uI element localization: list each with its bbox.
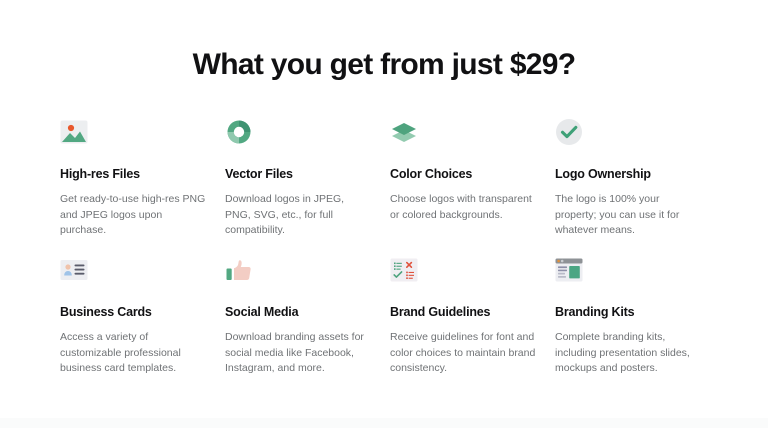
feature-title: Branding Kits bbox=[555, 304, 702, 320]
feature-description: Download branding assets for social medi… bbox=[225, 330, 372, 377]
feature-description: Receive guidelines for font and color ch… bbox=[390, 330, 537, 377]
feature-card-branding-kits: Branding Kits Complete branding kits, in… bbox=[555, 256, 720, 394]
page-title: What you get from just $29? bbox=[0, 0, 768, 84]
feature-title: Social Media bbox=[225, 304, 372, 320]
feature-description: Access a variety of customizable profess… bbox=[60, 330, 207, 377]
feature-title: High-res Files bbox=[60, 166, 207, 182]
features-grid: High-res Files Get ready-to-use high-res… bbox=[60, 118, 720, 394]
feature-description: Download logos in JPEG, PNG, SVG, etc., … bbox=[225, 192, 372, 239]
feature-description: The logo is 100% your property; you can … bbox=[555, 192, 702, 239]
image-photo-icon bbox=[60, 118, 88, 146]
feature-card-vector-files: Vector Files Download logos in JPEG, PNG… bbox=[225, 118, 390, 256]
feature-title: Vector Files bbox=[225, 166, 372, 182]
id-card-icon bbox=[60, 256, 88, 284]
presentation-slide-icon bbox=[555, 256, 583, 284]
features-section: What you get from just $29? High-res Fil… bbox=[0, 0, 768, 428]
feature-description: Choose logos with transparent or colored… bbox=[390, 192, 537, 223]
do-and-dont-checklist-icon bbox=[390, 256, 418, 284]
layers-stack-icon bbox=[390, 118, 418, 146]
bottom-divider-band bbox=[0, 418, 768, 428]
feature-description: Get ready-to-use high-res PNG and JPEG l… bbox=[60, 192, 207, 239]
feature-title: Brand Guidelines bbox=[390, 304, 537, 320]
feature-title: Business Cards bbox=[60, 304, 207, 320]
thumbs-up-icon bbox=[225, 256, 253, 284]
feature-description: Complete branding kits, including presen… bbox=[555, 330, 702, 377]
vector-pinwheel-icon bbox=[225, 118, 253, 146]
feature-title: Color Choices bbox=[390, 166, 537, 182]
feature-card-brand-guidelines: Brand Guidelines Receive guidelines for … bbox=[390, 256, 555, 394]
feature-card-logo-ownership: Logo Ownership The logo is 100% your pro… bbox=[555, 118, 720, 256]
feature-card-high-res-files: High-res Files Get ready-to-use high-res… bbox=[60, 118, 225, 256]
feature-card-social-media: Social Media Download branding assets fo… bbox=[225, 256, 390, 394]
check-circle-icon bbox=[555, 118, 583, 146]
feature-title: Logo Ownership bbox=[555, 166, 702, 182]
feature-card-color-choices: Color Choices Choose logos with transpar… bbox=[390, 118, 555, 256]
feature-card-business-cards: Business Cards Access a variety of custo… bbox=[60, 256, 225, 394]
